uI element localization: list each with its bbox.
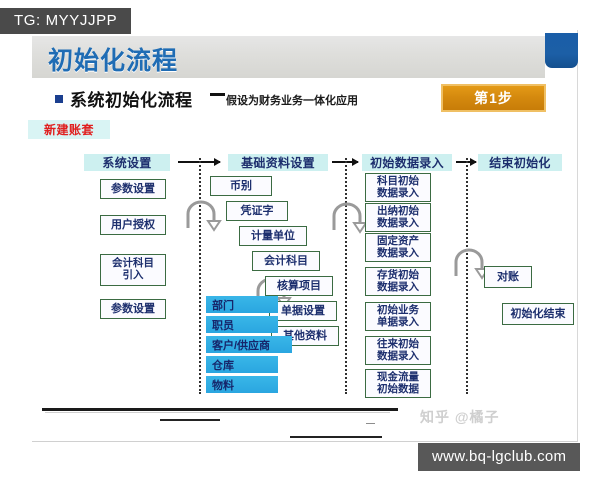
tg-tag-overlay: TG: MYYJJPP	[0, 8, 131, 34]
column-header-basic-data: 基础资料设置	[228, 154, 328, 171]
blue-node-3[interactable]: 客户/供应商	[206, 336, 292, 353]
node-init-2[interactable]: 出纳初始 数据录入	[365, 203, 431, 232]
new-account-set-label: 新建账套	[28, 120, 110, 139]
blue-node-2[interactable]: 职员	[206, 316, 278, 333]
node-init-3[interactable]: 固定资产 数据录入	[365, 233, 431, 262]
subheading-dash	[210, 93, 225, 96]
node-init-6[interactable]: 往来初始 数据录入	[365, 336, 431, 365]
bullet-square-icon	[55, 95, 63, 103]
subheading-main: 系统初始化流程	[70, 86, 193, 111]
node-init-5[interactable]: 初始业务 单据录入	[365, 302, 431, 331]
column-header-system-settings: 系统设置	[84, 154, 170, 171]
node-init-7[interactable]: 现金流量 初始数据	[365, 369, 431, 398]
bottom-rule-sub	[45, 412, 390, 413]
uturn-arrow-icon-1	[184, 198, 222, 232]
header-blue-block	[545, 33, 578, 68]
url-watermark: www.bq-lgclub.com	[418, 443, 580, 471]
bottom-rule-tiny	[366, 423, 375, 424]
divider-dotted-1	[199, 158, 201, 394]
node-init-4[interactable]: 存货初始 数据录入	[365, 267, 431, 296]
node-basic-2[interactable]: 凭证字	[226, 201, 288, 221]
bottom-rule-small-2	[290, 436, 382, 438]
bottom-rule-small-1	[160, 419, 220, 421]
node-basic-5[interactable]: 核算项目	[265, 276, 333, 296]
uturn-arrow-icon-3	[330, 200, 368, 234]
node-sys-3[interactable]: 会计科目 引入	[100, 254, 166, 286]
screenshot-root: 初始化流程 系统初始化流程 假设为财务业务一体化应用 第1步 新建账套 系统设置…	[0, 0, 600, 480]
node-basic-6[interactable]: 单据设置	[269, 301, 337, 321]
node-init-1[interactable]: 科目初始 数据录入	[365, 173, 431, 202]
blue-node-4[interactable]: 仓库	[206, 356, 278, 373]
zhihu-watermark: 知乎 @橘子	[420, 407, 500, 427]
step-badge: 第1步	[441, 84, 546, 112]
node-sys-4[interactable]: 参数设置	[100, 299, 166, 319]
blue-node-1[interactable]: 部门	[206, 296, 278, 313]
node-basic-3[interactable]: 计量单位	[239, 226, 307, 246]
node-basic-1[interactable]: 币别	[210, 176, 272, 196]
node-finish-1[interactable]: 对账	[484, 266, 532, 288]
divider-dotted-2	[345, 158, 347, 394]
subheading-note: 假设为财务业务一体化应用	[226, 92, 358, 108]
node-basic-4[interactable]: 会计科目	[252, 251, 320, 271]
column-header-initial-data: 初始数据录入	[362, 154, 452, 171]
flowchart: 系统设置 基础资料设置 初始数据录入 结束初始化	[32, 150, 578, 408]
page-title: 初始化流程	[48, 41, 178, 77]
node-sys-1[interactable]: 参数设置	[100, 179, 166, 199]
node-finish-2[interactable]: 初始化结束	[502, 303, 574, 325]
node-sys-2[interactable]: 用户授权	[100, 215, 166, 235]
blue-node-5[interactable]: 物料	[206, 376, 278, 393]
column-header-finish-init: 结束初始化	[478, 154, 562, 171]
bottom-rule-main	[42, 408, 398, 411]
